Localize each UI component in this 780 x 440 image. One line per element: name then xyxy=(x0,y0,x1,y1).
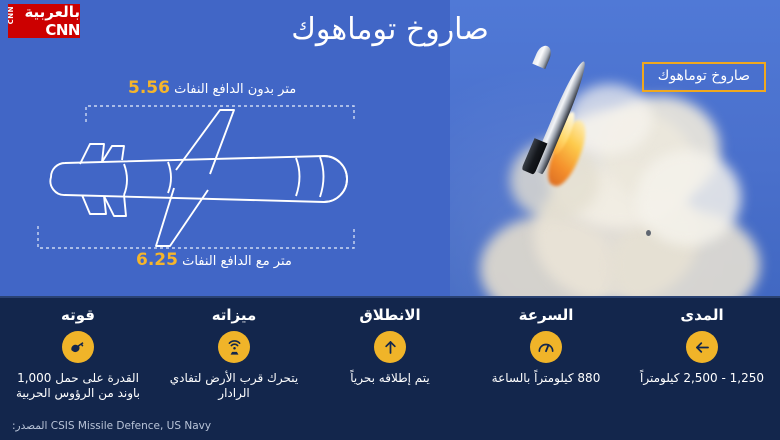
spec-cell-launch: الانطلاق يتم إطلاقه بحرياً xyxy=(312,298,468,410)
spec-cell-speed: السرعة 880 كيلومتراً بالساعة xyxy=(468,298,624,410)
source-value: CSIS Missile Defence, US Navy xyxy=(51,420,211,432)
spec-cells: قوته القدرة على حمل 1,000 باوند من الرؤو… xyxy=(0,298,780,410)
spec-title-range: المدى xyxy=(680,308,723,323)
spec-cell-features: ميزاته يتحرك قرب الأرض لتفادي الرادار xyxy=(156,298,312,410)
logo-vertical-mark: CNN xyxy=(8,6,15,24)
spec-text-speed: 880 كيلومتراً بالساعة xyxy=(492,371,601,386)
spec-title-features: ميزاته xyxy=(212,308,257,323)
spec-text-launch: يتم إطلاقه بحرياً xyxy=(350,371,430,386)
source-credit: CSIS Missile Defence, US Navy المصدر: xyxy=(12,420,211,432)
cnn-arabic-logo[interactable]: بالعربية CNN CNN xyxy=(8,4,80,38)
logo-wordmark: بالعربية CNN xyxy=(8,4,80,38)
dimension-unit-text-top: متر بدون الدافع النفاث xyxy=(174,82,296,97)
spec-text-features: يتحرك قرب الأرض لتفادي الرادار xyxy=(164,371,304,402)
bomb-icon xyxy=(62,331,94,363)
measure-bracket-top xyxy=(86,106,354,122)
spec-title-speed: السرعة xyxy=(519,308,574,323)
measure-bracket-bottom xyxy=(38,226,354,248)
debris-speck xyxy=(646,230,651,236)
infographic-root: صاروخ توماهوك xyxy=(0,0,780,440)
spec-title-power: قوته xyxy=(61,308,95,323)
speedometer-icon xyxy=(530,331,562,363)
spec-cell-power: قوته القدرة على حمل 1,000 باوند من الرؤو… xyxy=(0,298,156,410)
spec-panel: قوته القدرة على حمل 1,000 باوند من الرؤو… xyxy=(0,296,780,440)
dimension-value-top: 5.56 xyxy=(128,78,170,98)
upper-section: صاروخ توماهوك xyxy=(0,0,780,296)
spec-text-power: القدرة على حمل 1,000 باوند من الرؤوس الح… xyxy=(8,371,148,402)
spec-text-range: 1,250 - 2,500 كيلومتراً xyxy=(640,371,764,386)
dimension-label-without-booster: متر بدون الدافع النفاث 5.56 xyxy=(128,80,296,97)
dimension-label-with-booster: متر مع الدافع النفاث 6.25 xyxy=(136,252,292,269)
arrow-left-icon xyxy=(686,331,718,363)
dimension-unit-text-bottom: متر مع الدافع النفاث xyxy=(182,254,292,269)
smoke-cloud xyxy=(636,150,741,246)
spec-cell-range: المدى 1,250 - 2,500 كيلومتراً xyxy=(624,298,780,410)
source-prefix: المصدر: xyxy=(12,420,47,432)
radar-signal-icon xyxy=(218,331,250,363)
spec-title-launch: الانطلاق xyxy=(359,308,420,323)
arrow-up-icon xyxy=(374,331,406,363)
launch-photo: صاروخ توماهوك xyxy=(450,0,780,296)
missile-outline xyxy=(50,110,347,246)
dimension-value-bottom: 6.25 xyxy=(136,250,178,270)
missile-blueprint: متر بدون الدافع النفاث 5.56 متر مع الداف… xyxy=(24,74,380,286)
photo-callout-label: صاروخ توماهوك xyxy=(642,62,766,92)
